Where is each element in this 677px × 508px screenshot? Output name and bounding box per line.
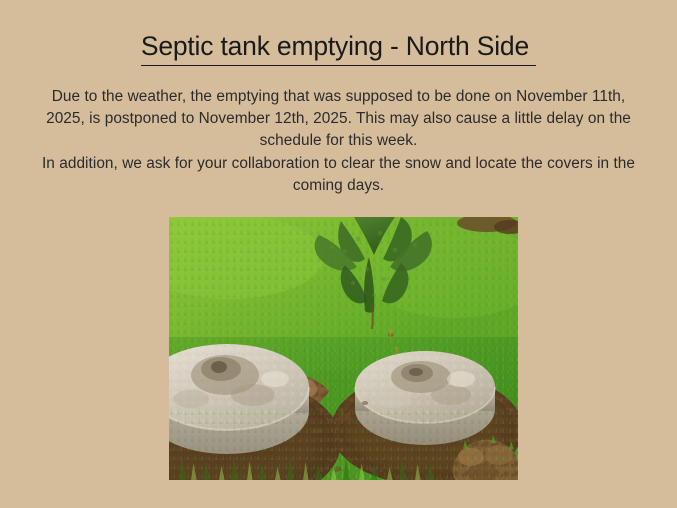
photo-canvas bbox=[169, 217, 518, 480]
page-title-container: Septic tank emptying - North Side bbox=[0, 30, 677, 66]
page-title: Septic tank emptying - North Side bbox=[141, 30, 536, 66]
notice-paragraph-1: Due to the weather, the emptying that wa… bbox=[38, 86, 639, 153]
notice-body: Due to the weather, the emptying that wa… bbox=[38, 86, 639, 197]
notice-paragraph-2: In addition, we ask for your collaborati… bbox=[38, 153, 639, 197]
septic-tank-covers-illustration bbox=[169, 217, 518, 480]
septic-tank-covers-photo bbox=[169, 217, 518, 480]
notice-page: Septic tank emptying - North Side Due to… bbox=[0, 0, 677, 508]
